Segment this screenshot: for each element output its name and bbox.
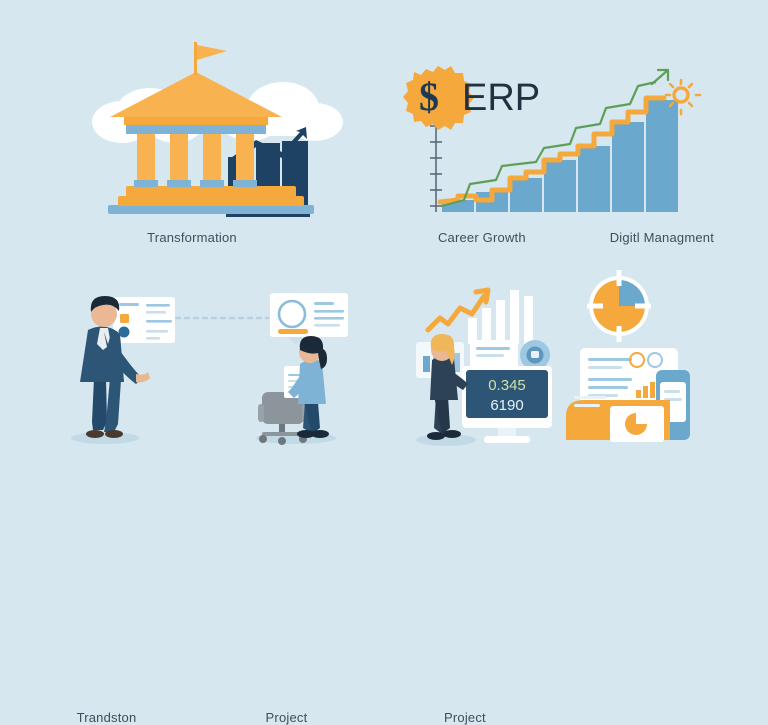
panel-trandston: Trandston Project — [0, 256, 384, 512]
trandston-artwork — [0, 256, 384, 512]
lower-band — [566, 396, 670, 442]
career-growth-artwork: $ ERP — [384, 0, 768, 256]
illustration-canvas: Transformation — [0, 0, 768, 512]
trend-arrow-icon — [652, 70, 668, 84]
project-dashboard-artwork: 0.345 6190 — [384, 256, 768, 512]
pie-chart-icon — [587, 270, 651, 342]
panel-career-growth: $ ERP Career Growth Digitl Managment — [384, 0, 768, 256]
caption-trandston-row: Trandston Project — [0, 710, 384, 725]
caption-trandston: Trandston — [77, 710, 137, 725]
erp-label: ERP — [462, 77, 540, 119]
caption-digital-management: Digitl Managment — [610, 230, 714, 245]
monitor-value-2: 6190 — [490, 397, 523, 414]
monitor-bars-icon — [468, 290, 533, 344]
caption-career-growth: Career Growth — [438, 230, 526, 245]
badge-icon — [520, 340, 550, 370]
dollar-symbol: $ — [419, 74, 439, 119]
building-step — [126, 186, 296, 198]
caption-transformation: Transformation — [0, 230, 384, 245]
caption-career-growth-row: Career Growth Digitl Managment — [384, 230, 768, 245]
document-card-icon — [113, 297, 175, 343]
building-platform — [108, 205, 314, 214]
caption-project-left: Project — [266, 710, 308, 725]
flag-icon — [194, 42, 227, 75]
monitor-value-1: 0.345 — [488, 377, 526, 394]
caption-project-right: Project — [444, 710, 486, 725]
figure-shadow — [71, 432, 139, 444]
transformation-artwork — [0, 0, 384, 256]
panel-transformation: Transformation — [0, 0, 384, 256]
panel-project-dashboard: 0.345 6190 — [384, 256, 768, 512]
monitor-icon: 0.345 6190 — [462, 366, 552, 443]
